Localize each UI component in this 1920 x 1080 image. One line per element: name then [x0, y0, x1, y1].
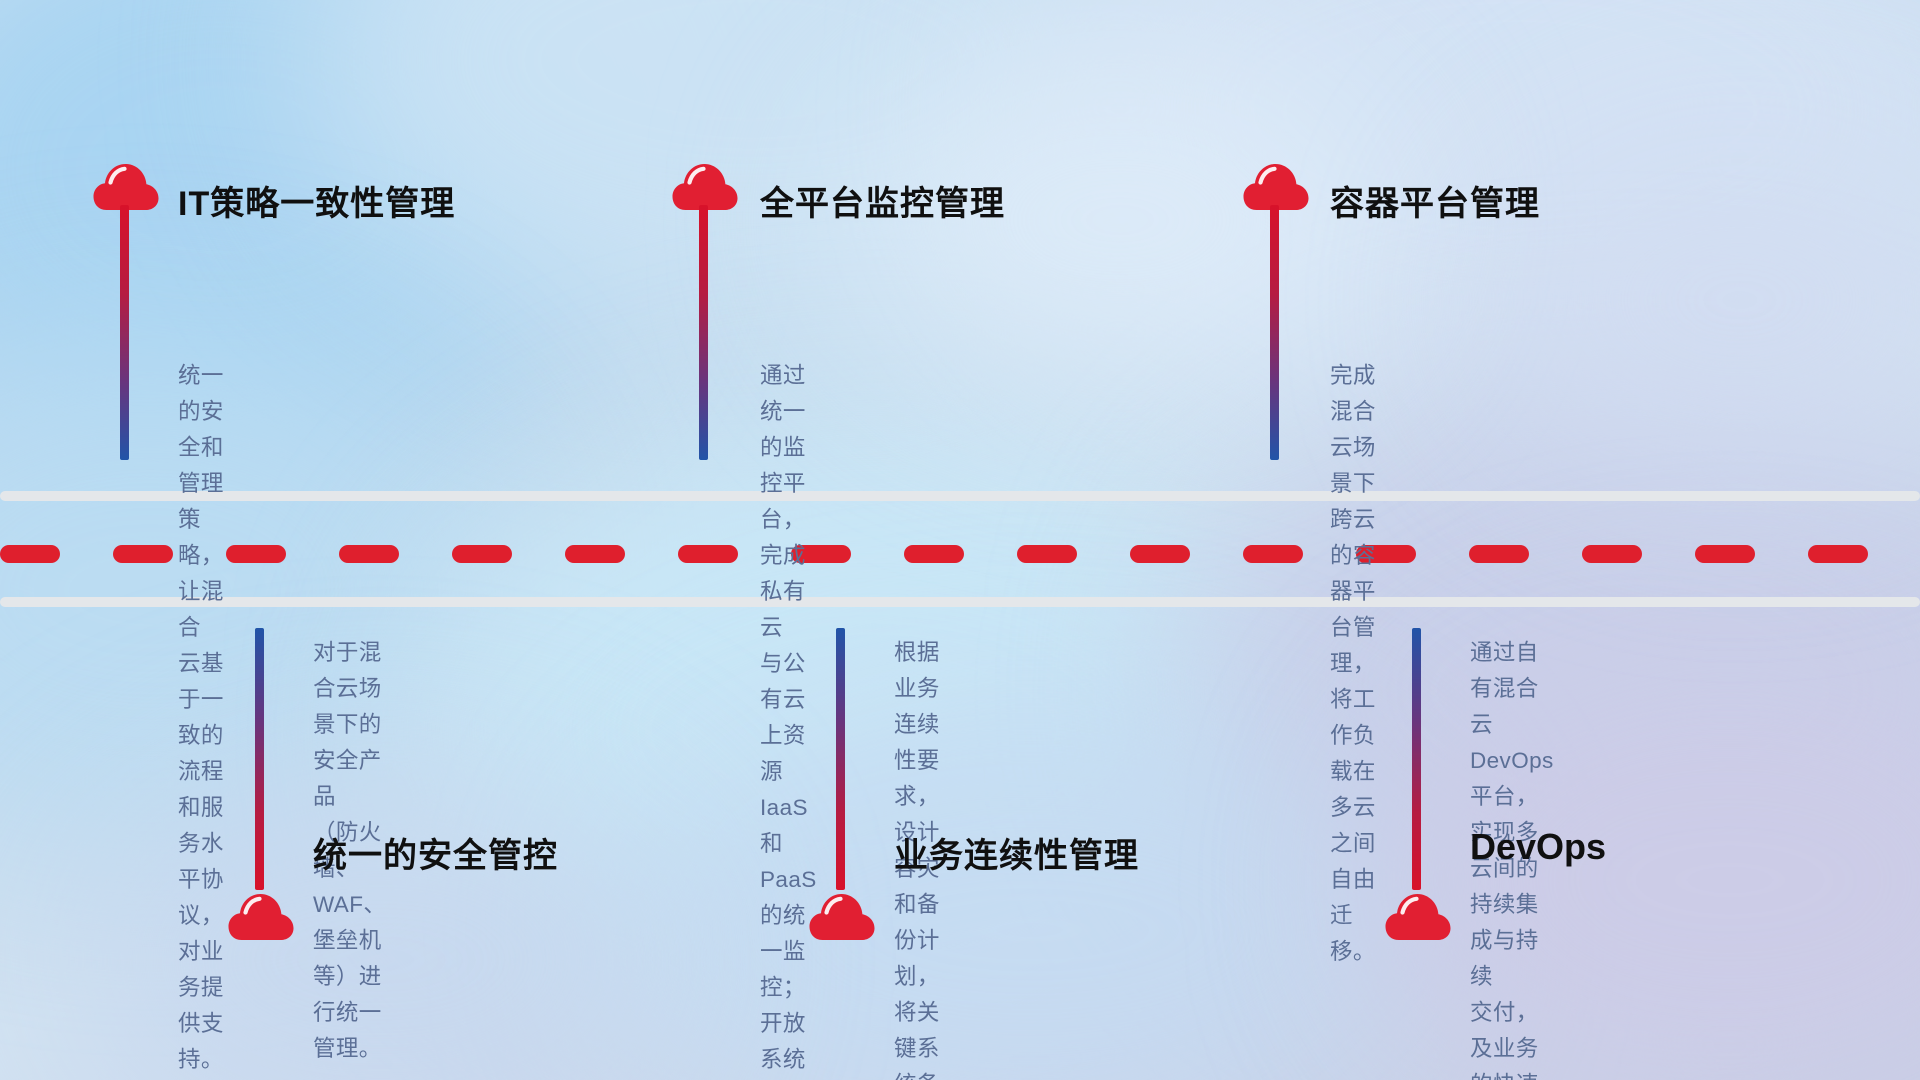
- road-dash: [452, 545, 512, 563]
- marker-stem: [1412, 628, 1421, 890]
- road-dash: [113, 545, 173, 563]
- marker-title: 业务连续性管理: [894, 828, 1139, 877]
- marker-stem: [255, 628, 264, 890]
- road-center-dashes: [0, 545, 1920, 563]
- cloud-icon: [809, 893, 875, 941]
- marker-title: 统一的安全管控: [313, 828, 558, 877]
- marker-stem: [120, 205, 129, 460]
- cloud-icon: [228, 893, 294, 941]
- road-dash: [1582, 545, 1642, 563]
- road-edge-bottom: [0, 597, 1920, 607]
- road-dash: [1808, 545, 1868, 563]
- road-dash: [339, 545, 399, 563]
- road-dash: [565, 545, 625, 563]
- road-dash: [678, 545, 738, 563]
- road-dash: [1695, 545, 1755, 563]
- cloud-icon: [93, 163, 159, 211]
- road-dash: [1017, 545, 1077, 563]
- marker-stem: [699, 205, 708, 460]
- marker-title: 全平台监控管理: [760, 176, 1005, 225]
- marker-stem: [1270, 205, 1279, 460]
- road-dash: [1469, 545, 1529, 563]
- road-dash: [1130, 545, 1190, 563]
- road-dash: [1243, 545, 1303, 563]
- road-dash: [904, 545, 964, 563]
- cloud-icon: [1243, 163, 1309, 211]
- marker-body: 统一的安全和管理策略，让混合 云基于一致的流程和服务水平协 议，对业务提供支持。: [178, 358, 224, 1078]
- marker-body: 通过统一的监控平台，完成私有云 与公有云上资源IaaS和PaaS的统 一监控；开…: [760, 358, 817, 1080]
- infographic-canvas: IT策略一致性管理 统一的安全和管理策略，让混合 云基于一致的流程和服务水平协 …: [0, 0, 1920, 1080]
- cloud-icon: [1385, 893, 1451, 941]
- road-dash: [0, 545, 60, 563]
- cloud-icon: [672, 163, 738, 211]
- marker-body: 完成混合云场景下跨云的容器平 台管理，将工作负载在多云之间 自由迁移。: [1330, 358, 1376, 970]
- road-dash: [226, 545, 286, 563]
- marker-title: IT策略一致性管理: [178, 176, 455, 225]
- road-edge-top: [0, 491, 1920, 501]
- marker-title: DevOps: [1470, 826, 1606, 868]
- marker-title: 容器平台管理: [1330, 176, 1540, 225]
- marker-stem: [836, 628, 845, 890]
